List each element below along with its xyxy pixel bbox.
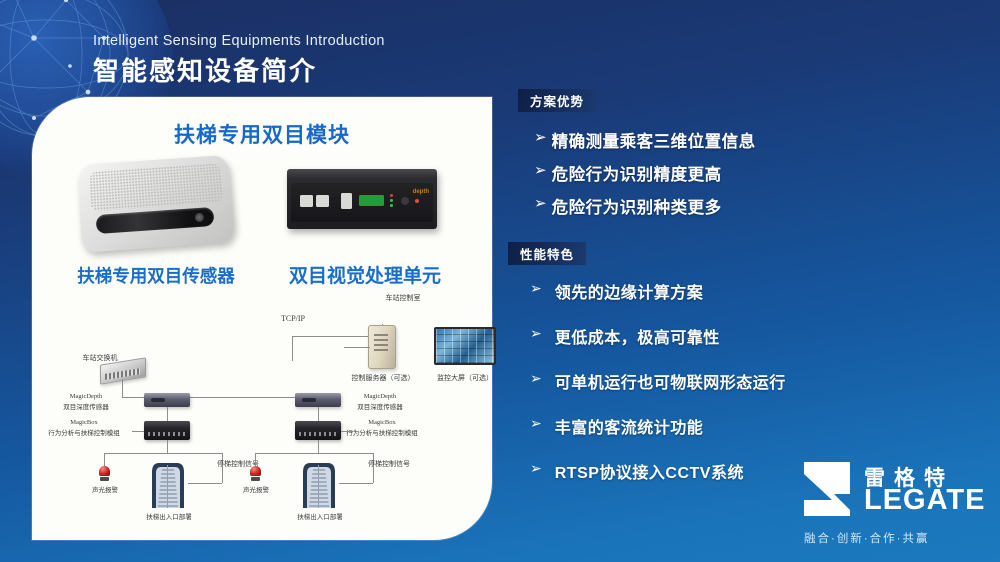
branch-2-escalator-label: 扶梯出入口部署 bbox=[283, 511, 357, 521]
topology-title: 车站控制室 bbox=[368, 293, 438, 303]
branch-1-box-name: 行为分析与扶梯控制模组 bbox=[36, 427, 132, 437]
magicbox-icon-2 bbox=[295, 421, 341, 440]
branch-2-signal-label: 停梯控制信号 bbox=[367, 459, 411, 469]
branch-2-box-name: 行为分析与扶梯控制模组 bbox=[334, 427, 430, 437]
page-header: Intelligent Sensing Equipments Introduct… bbox=[93, 33, 385, 88]
branch-2-signal-text: 停梯控制信号 bbox=[368, 460, 410, 468]
features-list-item: ➢ 更低成本，极高可靠性 bbox=[530, 324, 950, 348]
page-title: 智能感知设备简介 bbox=[93, 51, 385, 88]
branch-1-alarm-label: 声光报警 bbox=[76, 484, 134, 494]
branch-2-sensor-model: MagicDepth bbox=[344, 393, 416, 400]
features-item-text: 领先的边缘计算方案 bbox=[555, 279, 704, 303]
alarm-beacon-icon-2 bbox=[250, 466, 261, 481]
bullet-arrow-icon: ➢ bbox=[534, 130, 547, 145]
bullet-arrow-icon: ➢ bbox=[534, 163, 547, 178]
company-logo: 雷格特 LEGATE 融合·创新·合作·共赢 bbox=[800, 454, 986, 548]
logo-english-name: LEGATE bbox=[864, 484, 985, 517]
topology-link-label: TCP/IP bbox=[263, 314, 323, 323]
advantages-list-item: ➢ 精确测量乘客三维位置信息 bbox=[534, 128, 934, 152]
stereo-sensor-icon bbox=[80, 159, 232, 247]
product-caption-unit: 双目视觉处理单元 bbox=[270, 261, 460, 288]
branch-1-sensor-model: MagicDepth bbox=[50, 393, 122, 400]
bullet-arrow-icon: ➢ bbox=[530, 416, 542, 430]
legate-mark-icon bbox=[800, 460, 856, 518]
features-list-item: ➢ 领先的边缘计算方案 bbox=[530, 279, 950, 303]
features-item-text: 可单机运行也可物联网形态运行 bbox=[555, 369, 786, 393]
advantages-list: ➢ 精确测量乘客三维位置信息 ➢ 危险行为识别精度更高 ➢ 危险行为识别种类更多 bbox=[534, 128, 934, 227]
advantages-item-text: 精确测量乘客三维位置信息 bbox=[552, 128, 756, 152]
header-eyebrow: Intelligent Sensing Equipments Introduct… bbox=[93, 33, 385, 49]
magicdepth-sensor-icon bbox=[144, 393, 190, 407]
server-icon bbox=[368, 325, 396, 369]
advantages-list-item: ➢ 危险行为识别种类更多 bbox=[534, 194, 934, 218]
features-list-item: ➢ 丰富的客流统计功能 bbox=[530, 414, 950, 438]
advantages-list-item: ➢ 危险行为识别精度更高 bbox=[534, 161, 934, 185]
escalator-icon bbox=[146, 456, 190, 508]
bullet-arrow-icon: ➢ bbox=[530, 326, 542, 340]
features-section-label: 性能特色 bbox=[508, 242, 586, 265]
alarm-beacon-icon bbox=[99, 466, 110, 481]
bullet-arrow-icon: ➢ bbox=[530, 371, 542, 385]
advantages-item-text: 危险行为识别种类更多 bbox=[552, 194, 722, 218]
vision-processing-unit-icon: depth bbox=[287, 169, 437, 229]
node-label-server: 控制服务器（可选） bbox=[344, 373, 422, 383]
logo-tagline: 融合·创新·合作·共赢 bbox=[804, 530, 930, 546]
bullet-arrow-icon: ➢ bbox=[530, 281, 542, 295]
product-caption-sensor: 扶梯专用双目传感器 bbox=[54, 263, 258, 288]
magicdepth-sensor-icon-2 bbox=[295, 393, 341, 407]
advantages-item-text: 危险行为识别精度更高 bbox=[552, 161, 722, 185]
product-card: 扶梯专用双目模块 扶梯专用双目传感器 depth 双目视觉处理单元 bbox=[32, 97, 492, 540]
bullet-arrow-icon: ➢ bbox=[534, 196, 547, 211]
branch-2-alarm-label: 声光报警 bbox=[227, 484, 285, 494]
bullet-arrow-icon: ➢ bbox=[530, 461, 542, 475]
escalator-icon-2 bbox=[297, 456, 341, 508]
advantages-section-label: 方案优势 bbox=[518, 89, 596, 112]
video-wall-icon bbox=[434, 327, 496, 365]
branch-1-escalator-label: 扶梯出入口部署 bbox=[132, 511, 206, 521]
features-item-text: 丰富的客流统计功能 bbox=[555, 414, 704, 438]
branch-1-sensor-name: 双目深度传感器 bbox=[50, 401, 122, 411]
slide-root: Intelligent Sensing Equipments Introduct… bbox=[0, 0, 1000, 562]
features-item-text: RTSP协议接入CCTV系统 bbox=[555, 459, 744, 483]
card-title: 扶梯专用双目模块 bbox=[32, 119, 492, 149]
features-list-item: ➢ 可单机运行也可物联网形态运行 bbox=[530, 369, 950, 393]
branch-2-sensor-name: 双目深度传感器 bbox=[344, 401, 416, 411]
branch-2-box-model: MagicBox bbox=[340, 419, 424, 426]
unit-brand-mark: depth bbox=[413, 189, 429, 195]
features-item-text: 更低成本，极高可靠性 bbox=[555, 324, 720, 348]
branch-1-box-model: MagicBox bbox=[42, 419, 126, 426]
system-topology-diagram: 车站控制室 TCP/IP 控制服务器（可选） 监控大屏（可选） 车站交换机 Ma… bbox=[48, 293, 478, 531]
magicbox-icon bbox=[144, 421, 190, 440]
node-label-videowall: 监控大屏（可选） bbox=[426, 373, 504, 383]
